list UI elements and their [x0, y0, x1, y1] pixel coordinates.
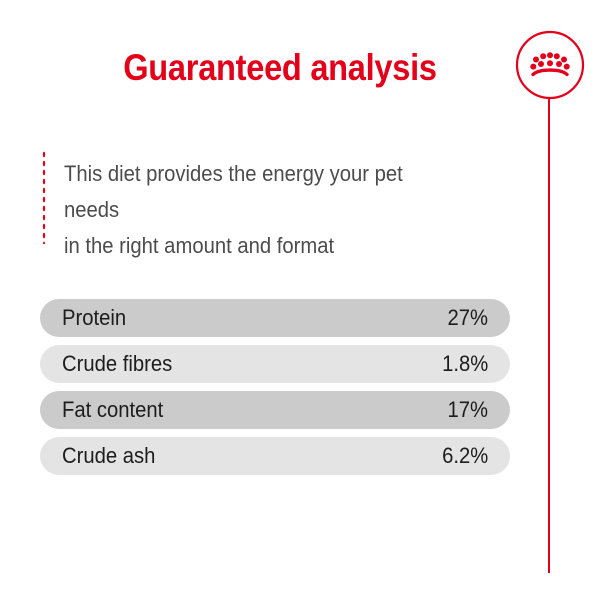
nutrient-value: 1.8%	[442, 345, 488, 383]
nutrient-label: Fat content	[62, 391, 163, 429]
table-row: Fat content 17%	[40, 391, 510, 429]
table-row: Crude fibres 1.8%	[40, 345, 510, 383]
analysis-table: Protein 27% Crude fibres 1.8% Fat conten…	[40, 299, 510, 483]
intro-line-2: in the right amount and format	[64, 228, 460, 264]
guaranteed-analysis-panel: Guaranteed analysis This diet provides t…	[0, 0, 600, 600]
intro-text: This diet provides the energy your pet n…	[64, 156, 460, 264]
nutrient-value: 27%	[447, 299, 488, 337]
intro-line-1: This diet provides the energy your pet n…	[64, 156, 460, 228]
nutrient-value: 6.2%	[442, 437, 488, 475]
nutrient-label: Crude fibres	[62, 345, 172, 383]
page-title: Guaranteed analysis	[34, 46, 527, 90]
logo-vertical-line	[548, 99, 550, 573]
table-row: Crude ash 6.2%	[40, 437, 510, 475]
nutrient-value: 17%	[447, 391, 488, 429]
table-row: Protein 27%	[40, 299, 510, 337]
nutrient-label: Protein	[62, 299, 126, 337]
nutrient-label: Crude ash	[62, 437, 155, 475]
dotted-accent-rule	[42, 150, 46, 244]
